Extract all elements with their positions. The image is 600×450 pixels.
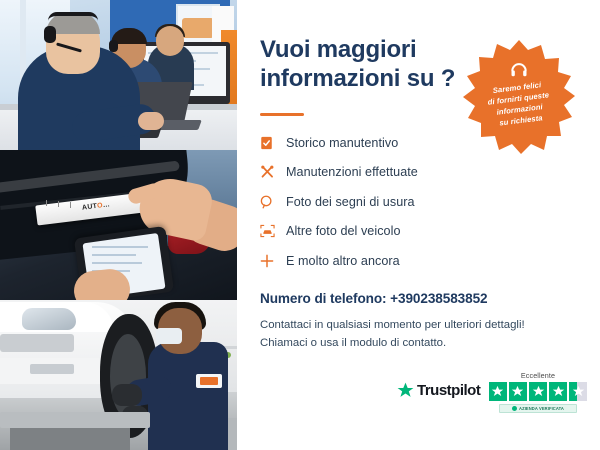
clipboard-check-icon bbox=[260, 136, 286, 150]
star-rating bbox=[483, 382, 593, 401]
contact-subtext-line2: Chiamaci o usa il modulo di contatto. bbox=[260, 335, 576, 353]
rating-label: Eccellente bbox=[483, 371, 593, 380]
contact-subtext-line1: Contattaci in qualsiasi momento per ulte… bbox=[260, 317, 576, 335]
star-icon bbox=[529, 382, 548, 401]
verified-business-badge: AZIENDA VERIFICATA bbox=[499, 404, 577, 414]
list-item[interactable]: Altre foto del veicolo bbox=[260, 217, 510, 247]
paint-thickness-measure-photo: AUTO… bbox=[0, 150, 237, 300]
phone-number[interactable]: Numero di telefono: +390238583852 bbox=[260, 291, 488, 306]
feature-list: Storico manutentivo Manutenzioni effettu… bbox=[260, 128, 510, 276]
wrench-screwdriver-icon bbox=[260, 165, 286, 180]
list-item[interactable]: E molto altro ancora bbox=[260, 246, 510, 276]
trustpilot-widget[interactable]: Trustpilot Eccellente AZIENDA VERIFICATA bbox=[397, 371, 593, 415]
list-item[interactable]: Foto dei segni di usura bbox=[260, 187, 510, 217]
page-title-line1: Vuoi maggiori bbox=[260, 35, 485, 64]
car-scan-icon bbox=[260, 224, 286, 238]
call-center-agents-photo bbox=[0, 0, 237, 150]
star-icon bbox=[489, 382, 508, 401]
contact-subtext: Contattaci in qualsiasi momento per ulte… bbox=[260, 317, 576, 352]
star-partial-icon bbox=[569, 382, 588, 401]
trustpilot-star-icon bbox=[397, 382, 414, 399]
photo-collage: AUTO… bbox=[0, 0, 237, 450]
headset-icon bbox=[509, 60, 529, 80]
list-item-label: E molto altro ancora bbox=[286, 254, 400, 268]
mechanic-wheel-inspection-photo bbox=[0, 300, 237, 450]
star-icon bbox=[509, 382, 528, 401]
list-item-label: Manutenzioni effettuate bbox=[286, 165, 418, 179]
plus-icon bbox=[260, 254, 286, 268]
verified-label: AZIENDA VERIFICATA bbox=[519, 406, 564, 411]
list-item-label: Storico manutentivo bbox=[286, 136, 398, 150]
list-item[interactable]: Storico manutentivo bbox=[260, 128, 510, 158]
verified-check-icon bbox=[512, 406, 517, 411]
page-title-line2: informazioni su ? bbox=[260, 64, 485, 93]
star-icon bbox=[549, 382, 568, 401]
info-panel: Vuoi maggiori informazioni su ? Saremo f… bbox=[237, 0, 600, 450]
trustpilot-name: Trustpilot bbox=[417, 382, 480, 399]
page-title: Vuoi maggiori informazioni su ? bbox=[260, 35, 485, 94]
trustpilot-logo: Trustpilot bbox=[397, 382, 480, 399]
list-item[interactable]: Manutenzioni effettuate bbox=[260, 158, 510, 188]
trustpilot-rating: Eccellente AZIENDA VERIFICATA bbox=[483, 371, 593, 413]
title-divider bbox=[260, 113, 304, 116]
magnifier-icon bbox=[260, 195, 286, 209]
list-item-label: Altre foto del veicolo bbox=[286, 224, 401, 238]
promo-card: AUTO… Vuoi maggiori informazioni su bbox=[0, 0, 600, 450]
list-item-label: Foto dei segni di usura bbox=[286, 195, 415, 209]
